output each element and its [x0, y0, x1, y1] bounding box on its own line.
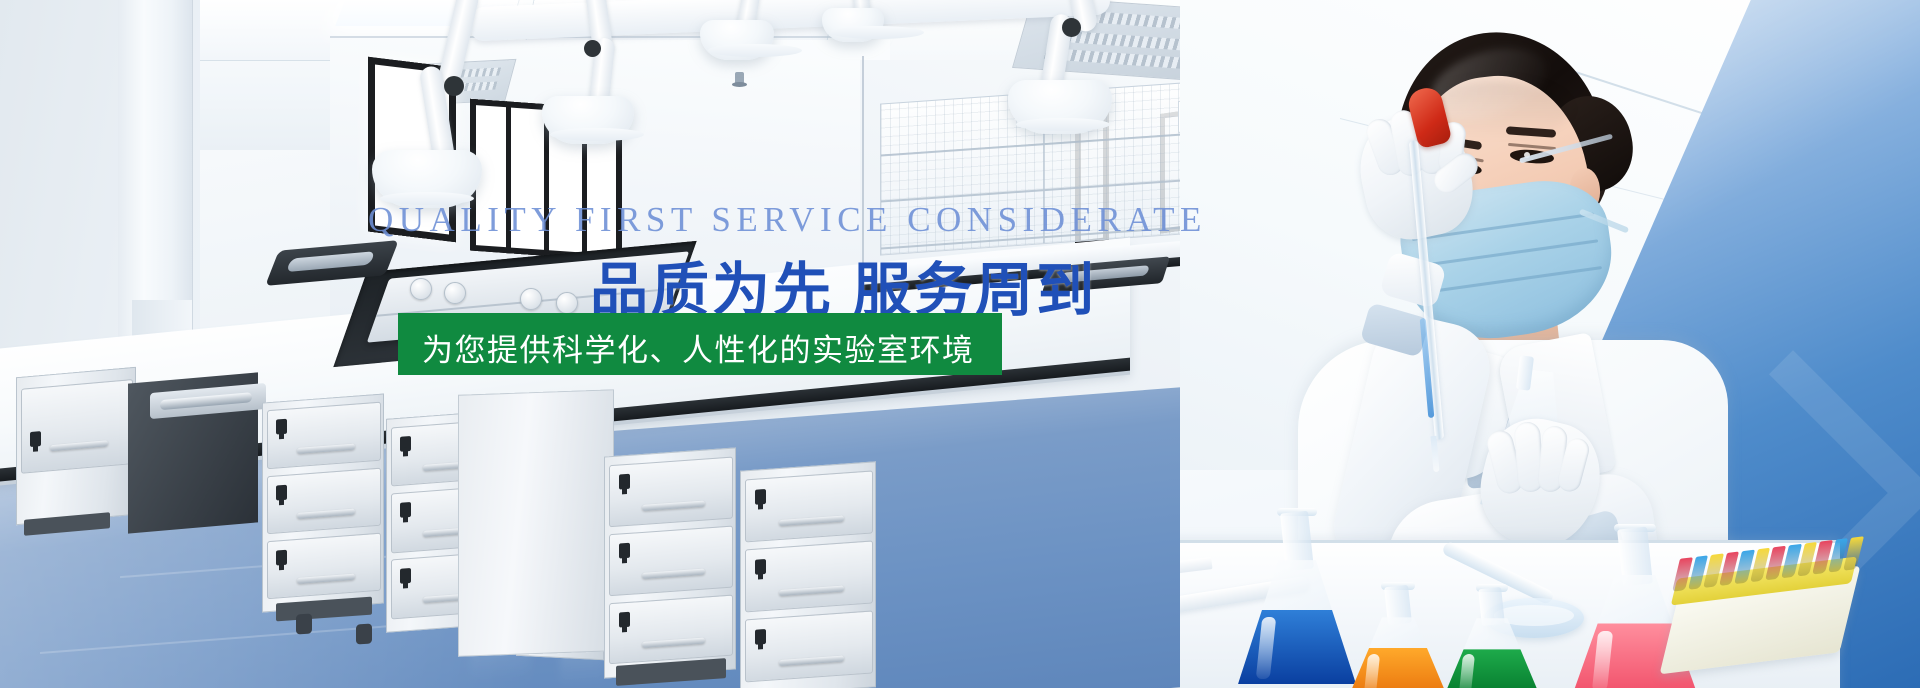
- lock-icon: [755, 629, 766, 645]
- flask-liquid: [1348, 648, 1448, 688]
- lock-icon: [276, 549, 287, 565]
- lock-icon: [30, 431, 41, 447]
- subtitle-green-bar: 为您提供科学化、人性化的实验室环境: [398, 313, 1002, 375]
- cabinet: [604, 447, 736, 678]
- lock-icon: [276, 419, 287, 435]
- cabinet: [16, 367, 136, 525]
- lock-icon: [400, 436, 411, 452]
- flask-blue: [1238, 512, 1356, 684]
- drawer-handle-icon: [779, 655, 844, 666]
- lock-icon: [619, 612, 630, 628]
- flask-body: [1444, 618, 1540, 688]
- valve-knob-icon: [410, 278, 432, 300]
- valve-knob-icon: [520, 288, 542, 310]
- lock-icon: [276, 484, 287, 500]
- dome-hood-icon: [822, 8, 884, 42]
- caster-icon: [296, 613, 312, 634]
- subtitle-chinese: 为您提供科学化、人性化的实验室环境: [422, 325, 975, 370]
- drawer-handle-icon: [779, 515, 844, 526]
- cabinet-front-panel: [458, 389, 614, 656]
- flask-green: [1444, 588, 1540, 688]
- caster-icon: [356, 623, 372, 644]
- cabinet: [262, 393, 384, 612]
- flask-orange: [1348, 586, 1448, 688]
- cabinet: [740, 461, 876, 688]
- drawer-handle-icon: [297, 443, 355, 453]
- hero-banner: QUALITY FIRST SERVICE CONSIDERATE 品质为先 服…: [0, 0, 1920, 688]
- flask-body: [1238, 560, 1356, 684]
- drawer-handle-icon: [297, 508, 355, 518]
- lock-icon: [755, 559, 766, 575]
- dome-hood-icon: [700, 20, 774, 60]
- scientist-photo: [1180, 0, 1920, 688]
- structural-column: [118, 0, 192, 350]
- dome-hood-icon: [1008, 80, 1112, 134]
- lock-icon: [619, 543, 630, 559]
- drawer-handle-icon: [50, 441, 107, 452]
- flask-body: [1348, 617, 1448, 688]
- lock-icon: [755, 489, 766, 505]
- lock-icon: [400, 502, 411, 518]
- dome-hood-icon: [542, 96, 634, 144]
- drawer-handle-icon: [642, 569, 705, 579]
- drawer-handle-icon: [779, 585, 844, 596]
- flask-liquid: [1444, 649, 1540, 688]
- valve-knob-icon: [556, 292, 578, 314]
- drawer-handle-icon: [642, 638, 705, 648]
- drawer-handle-icon: [297, 573, 355, 583]
- tagline-english: QUALITY FIRST SERVICE CONSIDERATE: [368, 200, 1028, 240]
- valve-knob-icon: [444, 282, 466, 304]
- sprinkler-icon: [735, 72, 744, 85]
- lock-icon: [619, 474, 630, 490]
- drawer-handle-icon: [642, 500, 705, 510]
- lock-icon: [400, 568, 411, 584]
